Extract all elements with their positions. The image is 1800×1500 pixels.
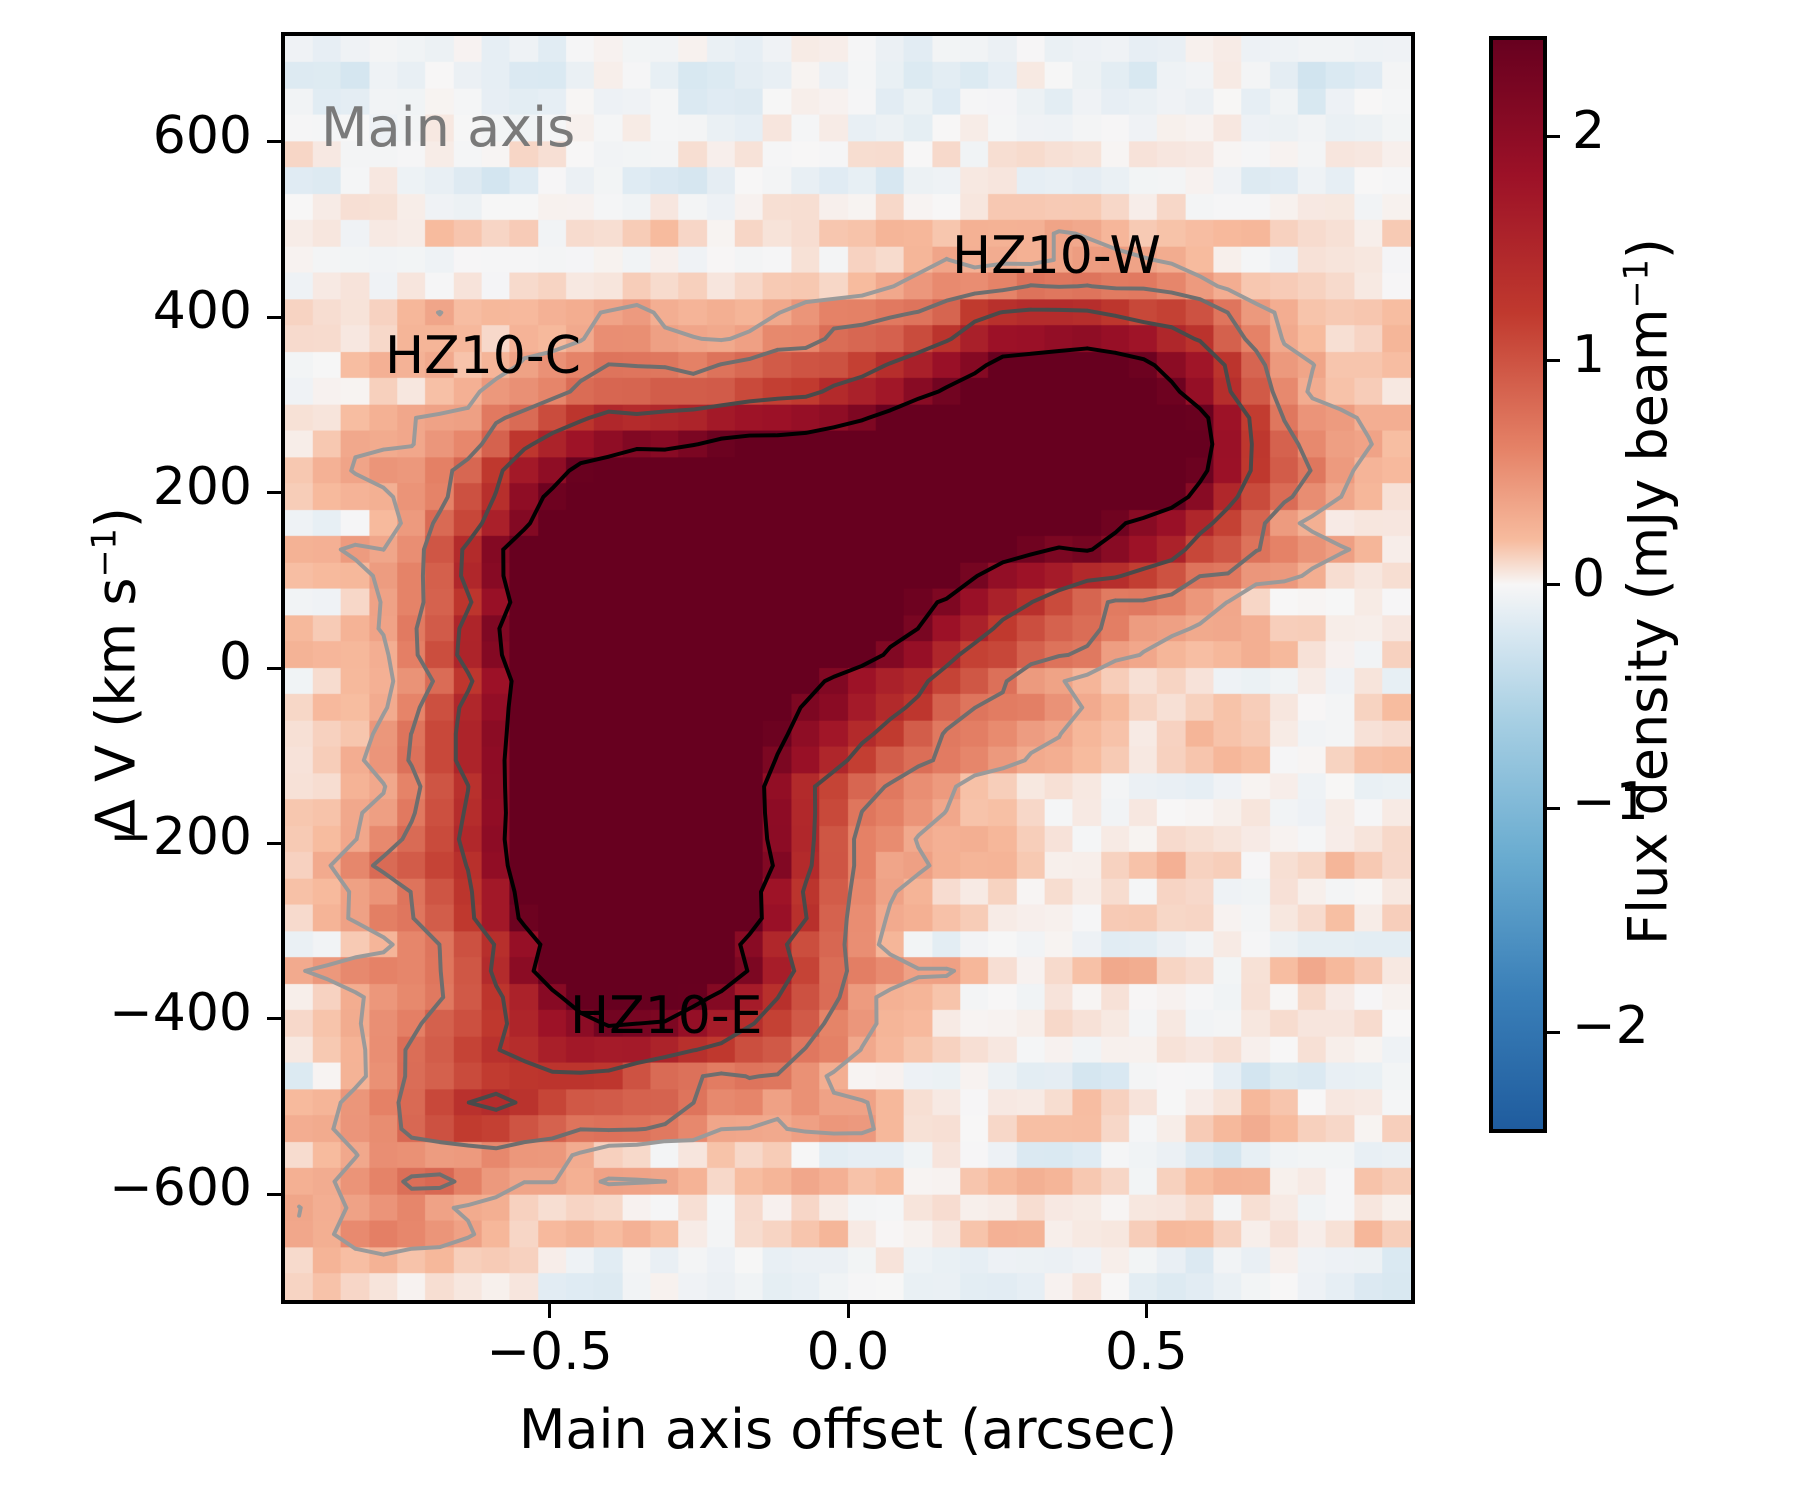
- y-tick-mark: [267, 491, 281, 494]
- y-tick-mark: [267, 1017, 281, 1020]
- y-tick-mark: [267, 667, 281, 670]
- y-tick-mark: [267, 1193, 281, 1196]
- pv-plot-area: Main axis HZ10-C HZ10-W HZ10-E: [281, 32, 1415, 1304]
- x-tick-label: 0.0: [807, 1322, 890, 1382]
- colorbar-tick-label: 1: [1572, 325, 1605, 385]
- x-tick-mark: [548, 1304, 551, 1318]
- y-tick-mark: [267, 842, 281, 845]
- y-axis-title: Δ V (km s−1): [85, 36, 148, 1308]
- pv-diagram-figure: Main axis HZ10-C HZ10-W HZ10-E 600400200…: [0, 0, 1800, 1500]
- colorbar-tick-label: 0: [1572, 549, 1605, 609]
- x-tick-mark: [847, 1304, 850, 1318]
- colorbar-tick-mark: [1547, 135, 1560, 138]
- contour-level-0.72: [373, 285, 1311, 1188]
- y-tick-mark: [267, 140, 281, 143]
- colorbar-tick-mark: [1547, 807, 1560, 810]
- x-tick-label: −0.5: [486, 1322, 612, 1382]
- colorbar-tick-mark: [1547, 583, 1560, 586]
- y-tick-mark: [267, 316, 281, 319]
- x-tick-mark: [1145, 1304, 1148, 1318]
- colorbar-tick-label: 2: [1572, 101, 1605, 161]
- colorbar-tick-mark: [1547, 1031, 1560, 1034]
- colorbar-gradient: [1493, 40, 1543, 1129]
- colorbar-tick-mark: [1547, 359, 1560, 362]
- colorbar-title: Flux density (mJy beam−1): [1617, 42, 1680, 1142]
- contour-level-1.35: [456, 310, 1252, 1110]
- x-tick-label: 0.5: [1105, 1322, 1188, 1382]
- pv-contour-overlay: [285, 36, 1411, 1300]
- contour-level-2.25: [499, 348, 1212, 1026]
- x-axis-title: Main axis offset (arcsec): [281, 1398, 1415, 1461]
- colorbar: [1489, 36, 1547, 1133]
